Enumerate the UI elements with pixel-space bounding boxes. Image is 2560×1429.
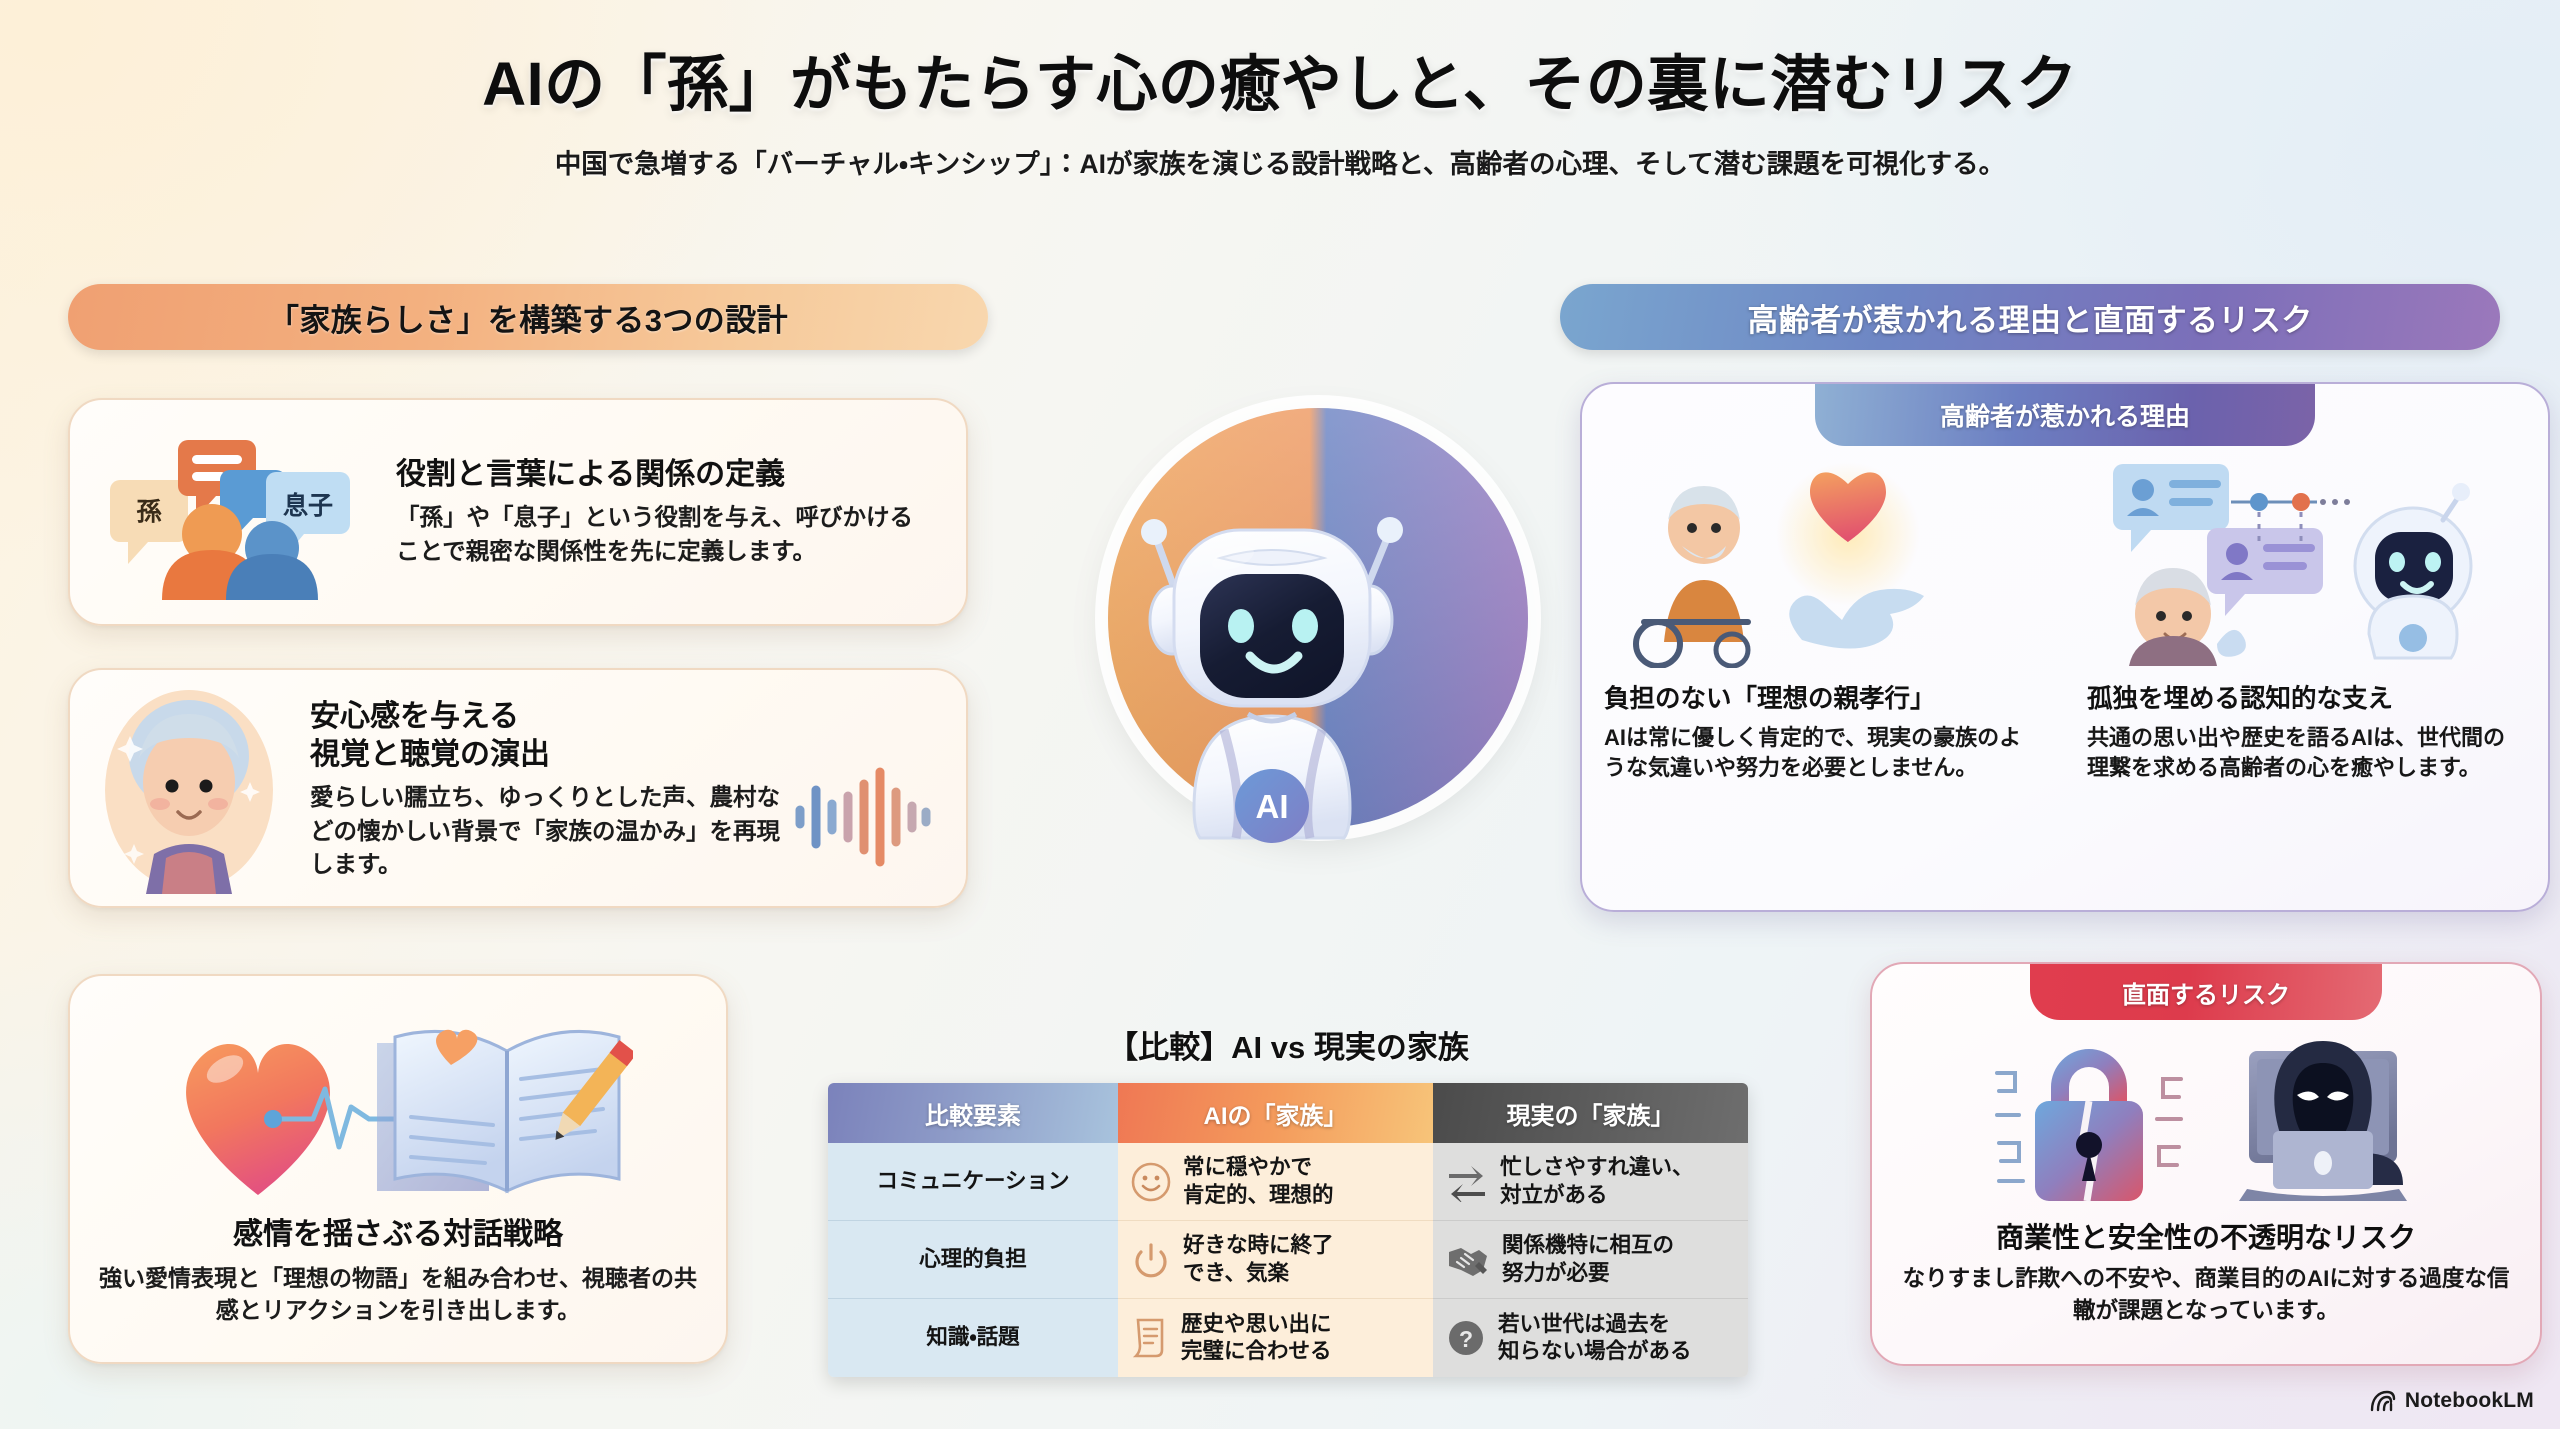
cell-factor: コミュニケーション: [828, 1143, 1118, 1221]
elderly-man-wheelchair-heart-hand-icon: [1604, 454, 2043, 672]
cell-ai: 好きな時に終了 でき、気楽: [1118, 1221, 1433, 1299]
comparison-section: 【比較】AI vs 現実の家族 比較要素 AIの「家族」 現実の「家族」 コミュ…: [828, 1022, 1748, 1377]
mascot-ai-label: AI: [1256, 788, 1289, 825]
robot-figure-icon: AI: [1108, 408, 1528, 878]
table-header-ai: AIの「家族」: [1118, 1083, 1433, 1143]
cell-ai: 常に穏やかで 肯定的、理想的: [1118, 1143, 1433, 1221]
svg-text:?: ?: [1459, 1326, 1473, 1352]
cell-line1: 関係機特に相互の: [1502, 1232, 1736, 1259]
comparison-table: 比較要素 AIの「家族」 現実の「家族」 コミュニケーション: [828, 1083, 1748, 1377]
notebooklm-branding: NotebookLM: [2370, 1389, 2534, 1413]
svg-text:孫: 孫: [136, 498, 162, 526]
elderly-woman-robot-chat-icon: [2087, 454, 2526, 672]
cell-line1: 忙しさやすれ違い、: [1500, 1154, 1736, 1181]
scroll-document-icon: [1130, 1316, 1170, 1360]
card-body: 愛らしい臑立ち、ゆっくりとした声、農村などの懐かしい背景で「家族の温かみ」を再現…: [310, 781, 792, 881]
table-header-factor: 比較要素: [828, 1083, 1118, 1143]
comparison-title: 【比較】AI vs 現実の家族: [828, 1022, 1748, 1067]
cell-factor: 知識・話題: [828, 1299, 1118, 1377]
design-card-roles: 孫 息子 役割と言葉による関係の定義 「孫」や「息子」という役割を与え、呼びかけ…: [68, 398, 968, 626]
cell-factor: 心理的負担: [828, 1221, 1118, 1299]
notebooklm-logo-icon: [2370, 1390, 2396, 1412]
risk-card: 直面するリスク: [1870, 962, 2542, 1366]
cell-ai: 歴史や思い出に 完璧に合わせる: [1118, 1299, 1433, 1377]
heart-pulse-book-icon: [96, 1002, 700, 1212]
speech-bubbles-people-icon: 孫 息子: [100, 422, 370, 602]
design-card-emotion: 感情を揺さぶる対話戦略 強い愛情表現と「理想の物語」を組み合わせ、視聴者の共感と…: [68, 974, 728, 1364]
card-title-line1: 安心感を与える: [310, 698, 792, 736]
svg-text:息子: 息子: [283, 491, 333, 520]
cell-line2: 完璧に合わせる: [1181, 1338, 1421, 1365]
cell-line1: 好きな時に終了: [1183, 1232, 1421, 1259]
cell-line2: でき、気楽: [1183, 1260, 1421, 1287]
card-title: 役割と言葉による関係の定義: [396, 456, 936, 494]
page-header: AIの「孫」がもたらす心の癒やしと、その裏に潜むリスク 中国で急増する「バーチャ…: [0, 34, 2560, 181]
card-body: 強い愛情表現と「理想の物語」を組み合わせ、視聴者の共感とリアクションを引き出しま…: [96, 1262, 700, 1326]
card-body: 「孫」や「息子」という役割を与え、呼びかけることで親密な関係性を先に定義します。: [396, 501, 936, 568]
section-pill-risk: 高齢者が惹かれる理由と直面するリスク: [1560, 284, 2500, 350]
elderly-attraction-badge: 高齢者が惹かれる理由: [1815, 384, 2315, 446]
risk-body: なりすまし詐欺への不安や、商業目的のAIに対する過度な信轍が課題となっています。: [1894, 1263, 2518, 1326]
design-card-sensory: 安心感を与える 視覚と聴覚の演出 愛らしい臑立ち、ゆっくりとした声、農村などの懐…: [68, 668, 968, 908]
ai-robot-mascot: AI: [1108, 408, 1528, 878]
card-title: 感情を揺さぶる対話戦略: [96, 1216, 700, 1254]
broken-padlock-icon: [1989, 1033, 2189, 1209]
cell-line2: 努力が必要: [1502, 1260, 1736, 1287]
cell-real: ? 若い世代は過去を 知らない場合がある: [1433, 1299, 1748, 1377]
cell-line2: 肯定的、理想的: [1183, 1182, 1421, 1209]
attraction-body-1: AIは常に優しく肯定的で、現実の豪族のような気違いや努力を必要としません。: [1604, 723, 2043, 784]
page-title: AIの「孫」がもたらす心の癒やしと、その裏に潜むリスク: [0, 34, 2560, 123]
attraction-column-1: 負担のない「理想の親孝行」 AIは常に優しく肯定的で、現実の豪族のような気違いや…: [1582, 454, 2065, 912]
cell-line1: 若い世代は過去を: [1498, 1311, 1736, 1338]
table-row: 心理的負担 好きな時に終了 でき、気楽: [828, 1221, 1748, 1299]
elderly-attraction-card: 高齢者が惹かれる理由: [1580, 382, 2550, 912]
table-row: コミュニケーション 常に穏やかで 肯定的、理想的: [828, 1143, 1748, 1221]
risk-title: 商業性と安全性の不透明なリスク: [1894, 1216, 2518, 1256]
notebooklm-label: NotebookLM: [2405, 1389, 2534, 1413]
two-way-arrows-icon: [1445, 1162, 1489, 1202]
attraction-body-2: 共通の思い出や歴史を語るAIは、世代間の理繋を求める高齢者の心を癒やします。: [2087, 723, 2526, 784]
attraction-title-1: 負担のない「理想の親孝行」: [1604, 678, 2043, 715]
hacker-laptop-icon: [2223, 1033, 2423, 1209]
cell-line1: 歴史や思い出に: [1181, 1311, 1421, 1338]
smiley-face-icon: [1130, 1161, 1172, 1203]
card-title: 安心感を与える 視覚と聴覚の演出: [310, 698, 792, 773]
elderly-woman-avatar-icon: [94, 686, 284, 894]
card-title-line2: 視覚と聴覚の演出: [310, 736, 792, 774]
question-mark-circle-icon: ?: [1445, 1317, 1487, 1359]
cell-line2: 対立がある: [1500, 1182, 1736, 1209]
cell-line2: 知らない場合がある: [1498, 1338, 1736, 1365]
cell-real: 関係機特に相互の 努力が必要: [1433, 1221, 1748, 1299]
table-header-real: 現実の「家族」: [1433, 1083, 1748, 1143]
power-button-icon: [1130, 1239, 1172, 1281]
handshake-icon: [1445, 1240, 1491, 1280]
cell-line1: 常に穏やかで: [1183, 1154, 1421, 1181]
attraction-title-2: 孤独を埋める認知的な支え: [2087, 678, 2526, 715]
page-subtitle: 中国で急増する「バーチャル・キンシップ」：AIが家族を演じる設計戦略と、高齢者の…: [0, 142, 2560, 181]
cell-real: 忙しさやすれ違い、 対立がある: [1433, 1143, 1748, 1221]
audio-waveform-icon: [792, 762, 932, 872]
table-header-row: 比較要素 AIの「家族」 現実の「家族」: [828, 1083, 1748, 1143]
section-pill-design: 「家族らしさ」を構築する3つの設計: [68, 284, 988, 350]
attraction-column-2: 孤独を埋める認知的な支え 共通の思い出や歴史を語るAIは、世代間の理繋を求める高…: [2065, 454, 2548, 912]
risk-badge: 直面するリスク: [2030, 964, 2382, 1020]
table-row: 知識・話題 歴史や思い出に: [828, 1299, 1748, 1377]
